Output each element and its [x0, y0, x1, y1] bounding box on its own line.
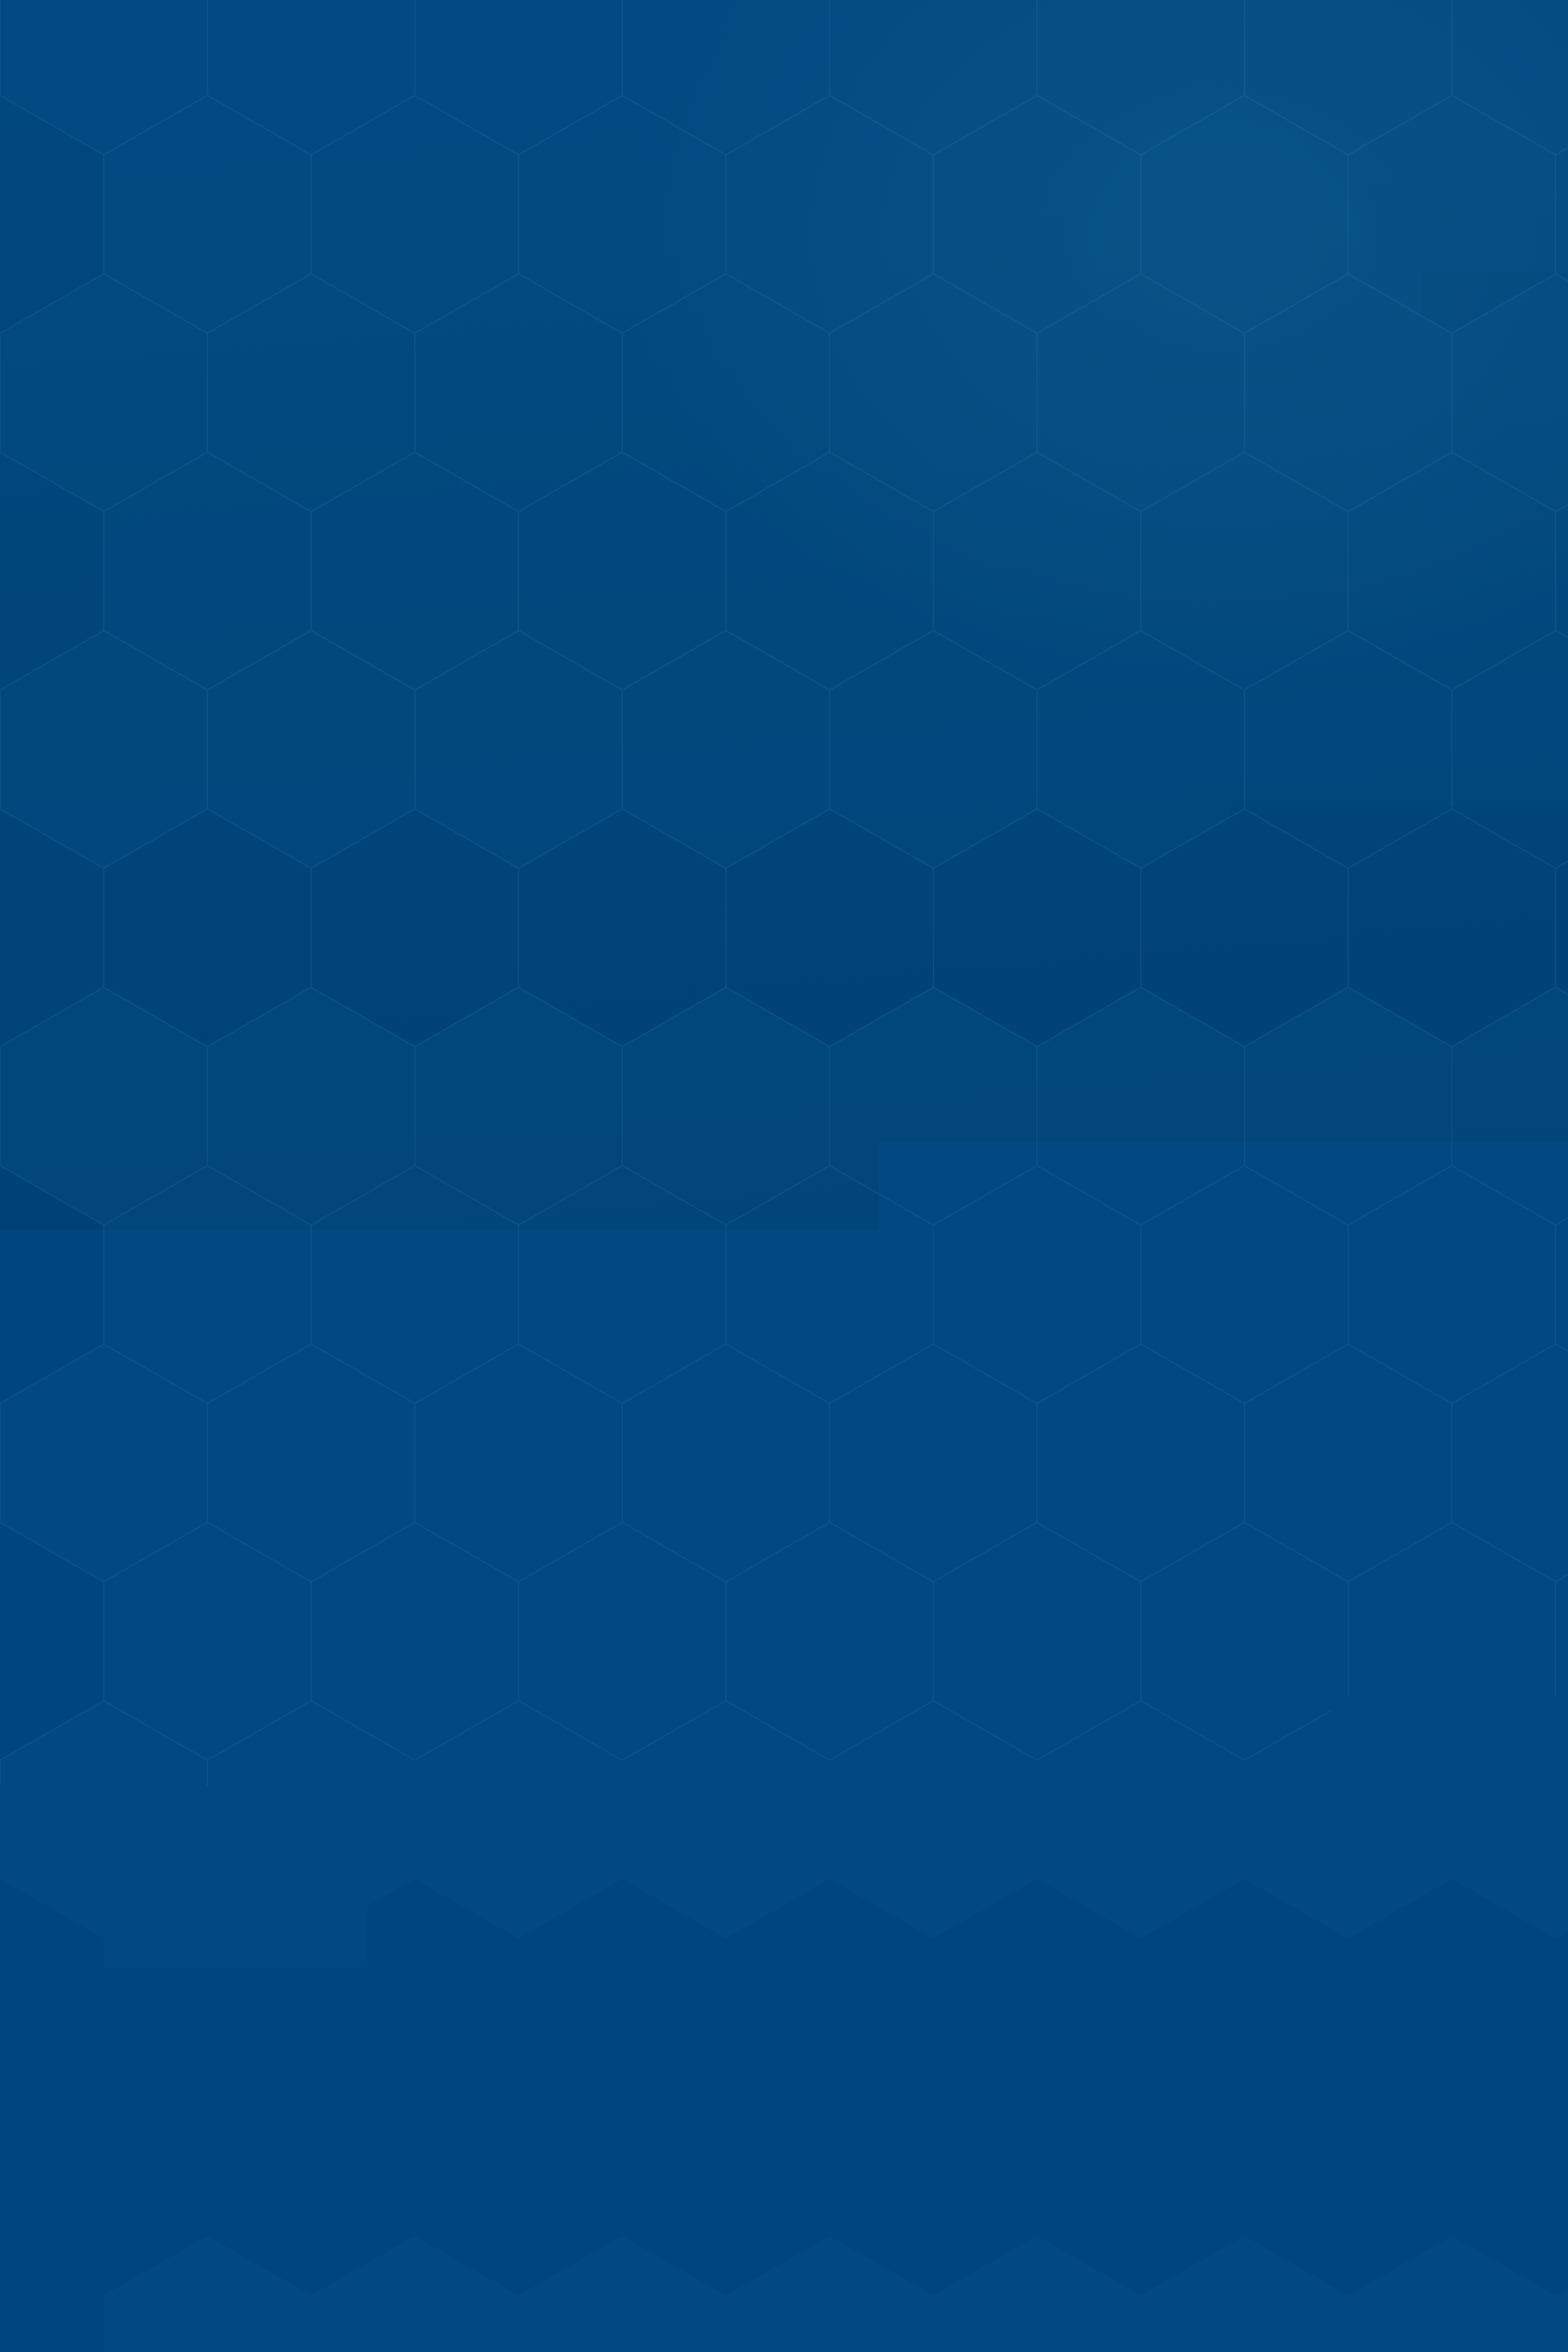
- leaf-icon: [1262, 415, 1397, 652]
- section-tag-label: 生物育种前沿: [238, 464, 530, 526]
- organization-name: 湖南大学·生物学院: [336, 214, 703, 274]
- speaker-name: 丁伟 教授: [198, 878, 478, 968]
- section-tag: 生物育种前沿: [174, 456, 593, 534]
- hexagon-swirl-logo-icon: [181, 207, 312, 357]
- issue-badge: 第221期: [185, 97, 434, 173]
- portrait-image: [1039, 684, 1343, 988]
- bracket-right-icon: [530, 456, 593, 534]
- flask-icon: [962, 409, 1115, 626]
- host-name-row: 朱咏华 教授: [1030, 1871, 1291, 1953]
- brand-logo-text: 湖南大学·生物学院 天马学术论坛: [336, 210, 703, 355]
- heartbeat-icon: [1085, 241, 1311, 393]
- event-datetime: 2024.5.8 周三 下午 15:00: [181, 1833, 814, 1911]
- bracket-left-icon: [174, 456, 238, 534]
- forum-name: 天马学术论坛: [336, 279, 703, 355]
- speaker-portrait: [1033, 678, 1350, 994]
- bottom-divider: [185, 1793, 314, 1809]
- brand-logo-row: 湖南大学·生物学院 天马学术论坛: [181, 207, 703, 357]
- host-title: 教授: [1216, 1895, 1291, 1947]
- host-label: 主持人：: [1030, 1777, 1240, 1849]
- host-name: 朱咏华: [1030, 1871, 1206, 1953]
- poster-root: 第221期 湖南大学·生物学院 天马学术论坛 生物育种前沿 三位一体的植物医学 …: [0, 0, 1568, 2352]
- speaker-label: 报告人：: [214, 788, 436, 864]
- talk-title: 三位一体的植物医学: [173, 650, 733, 738]
- event-location: 地点: 生物学院实验楼 B111: [181, 1936, 852, 2013]
- speaker-bio: 西南大学教授，博士生导师。西南大学农药研究所所长；重庆市植物保护学会副理事长，全…: [192, 1030, 1395, 1626]
- issue-badge-label: 第221期: [242, 109, 377, 161]
